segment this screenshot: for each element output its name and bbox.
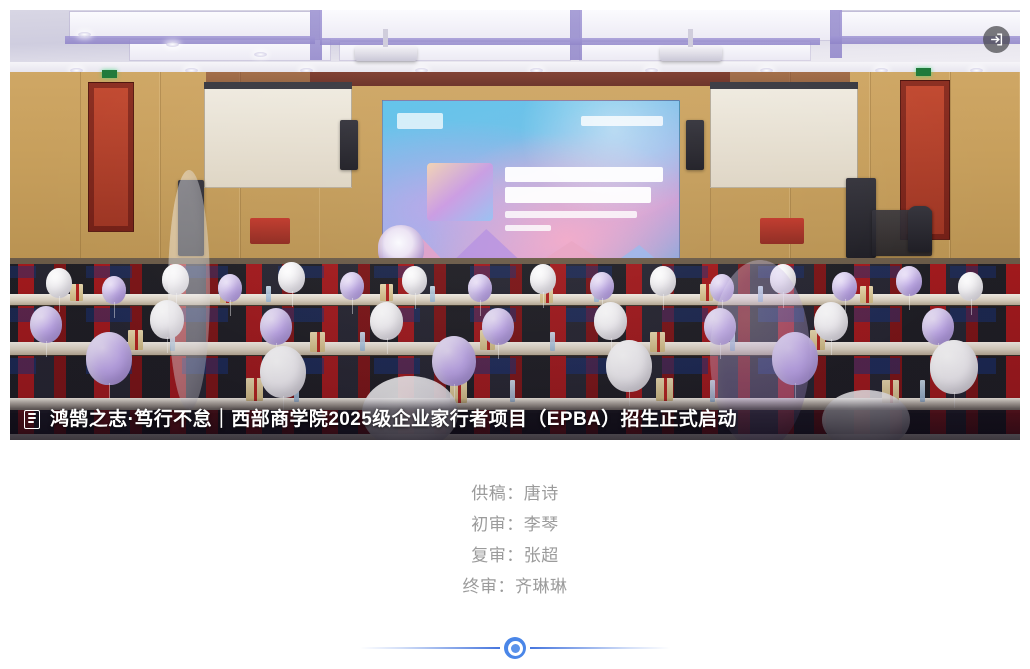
led-slogan [581, 116, 663, 126]
balloon [340, 272, 364, 300]
projection-screen-left [204, 88, 352, 188]
balloon [482, 308, 514, 345]
stage-led-screen [382, 100, 680, 280]
balloon [468, 274, 492, 302]
speaker-top-right [686, 120, 704, 170]
cover-caption-text: 鸿鹄之志·笃行不怠｜西部商学院2025级企业家行者项目（EPBA）招生正式启动 [50, 410, 737, 429]
credit-contributor: 供稿：唐诗 [0, 478, 1030, 509]
led-date [505, 225, 551, 231]
led-year-badge [427, 163, 493, 221]
av-operator [908, 206, 932, 252]
stage-banner-right [760, 218, 804, 244]
balloon [930, 340, 978, 394]
balloon [594, 302, 627, 340]
led-subtitle [505, 211, 637, 218]
balloon [30, 306, 62, 343]
balloon [814, 302, 848, 341]
exit-sign-left [102, 70, 117, 78]
led-school-logo [397, 113, 443, 129]
credit-first-review: 初审：李琴 [0, 509, 1030, 540]
article-document-icon [24, 410, 40, 429]
balloon [46, 268, 72, 298]
balloon [260, 346, 306, 398]
speaker-top-left [340, 120, 358, 170]
balloon [606, 340, 652, 392]
led-title-line2 [505, 187, 651, 203]
article-credits: 供稿：唐诗 初审：李琴 复审：张超 终审：齐琳琳 [0, 478, 1030, 602]
balloon [218, 274, 242, 302]
balloon [370, 302, 403, 340]
cover-caption: 鸿鹄之志·笃行不怠｜西部商学院2025级企业家行者项目（EPBA）招生正式启动 [10, 398, 1020, 440]
login-enter-icon [989, 32, 1004, 47]
divider-line-right [530, 647, 670, 649]
balloon [650, 266, 676, 296]
balloon [896, 266, 922, 296]
balloon [590, 272, 614, 300]
ceiling [10, 10, 1020, 74]
balloon [958, 272, 983, 301]
login-button[interactable] [983, 26, 1010, 53]
article-page: 鸿鹄之志·笃行不怠｜西部商学院2025级企业家行者项目（EPBA）招生正式启动 … [0, 0, 1030, 669]
ceiling-projector-right [660, 46, 722, 61]
credit-second-review: 复审：张超 [0, 540, 1030, 571]
divider-line-left [360, 647, 500, 649]
balloon [102, 276, 126, 304]
balloon [402, 266, 427, 295]
balloon [832, 272, 857, 301]
balloon-foreground [168, 170, 210, 410]
article-cover-image[interactable]: 鸿鹄之志·笃行不怠｜西部商学院2025级企业家行者项目（EPBA）招生正式启动 [10, 10, 1020, 440]
ceiling-projector-left [355, 46, 417, 61]
ornamental-divider [0, 634, 1030, 662]
conference-hall-photo [10, 10, 1020, 440]
balloon [530, 264, 556, 294]
balloon [278, 262, 305, 293]
balloon [260, 308, 292, 345]
balloon [86, 332, 132, 385]
exit-sign-right [916, 68, 931, 76]
stage-banner-left [250, 218, 290, 244]
credit-final-review: 终审：齐琳琳 [0, 571, 1030, 602]
projection-screen-right [710, 88, 858, 188]
divider-circle-ornament [504, 637, 526, 659]
balloon [432, 336, 476, 386]
led-title-line1 [505, 167, 663, 182]
